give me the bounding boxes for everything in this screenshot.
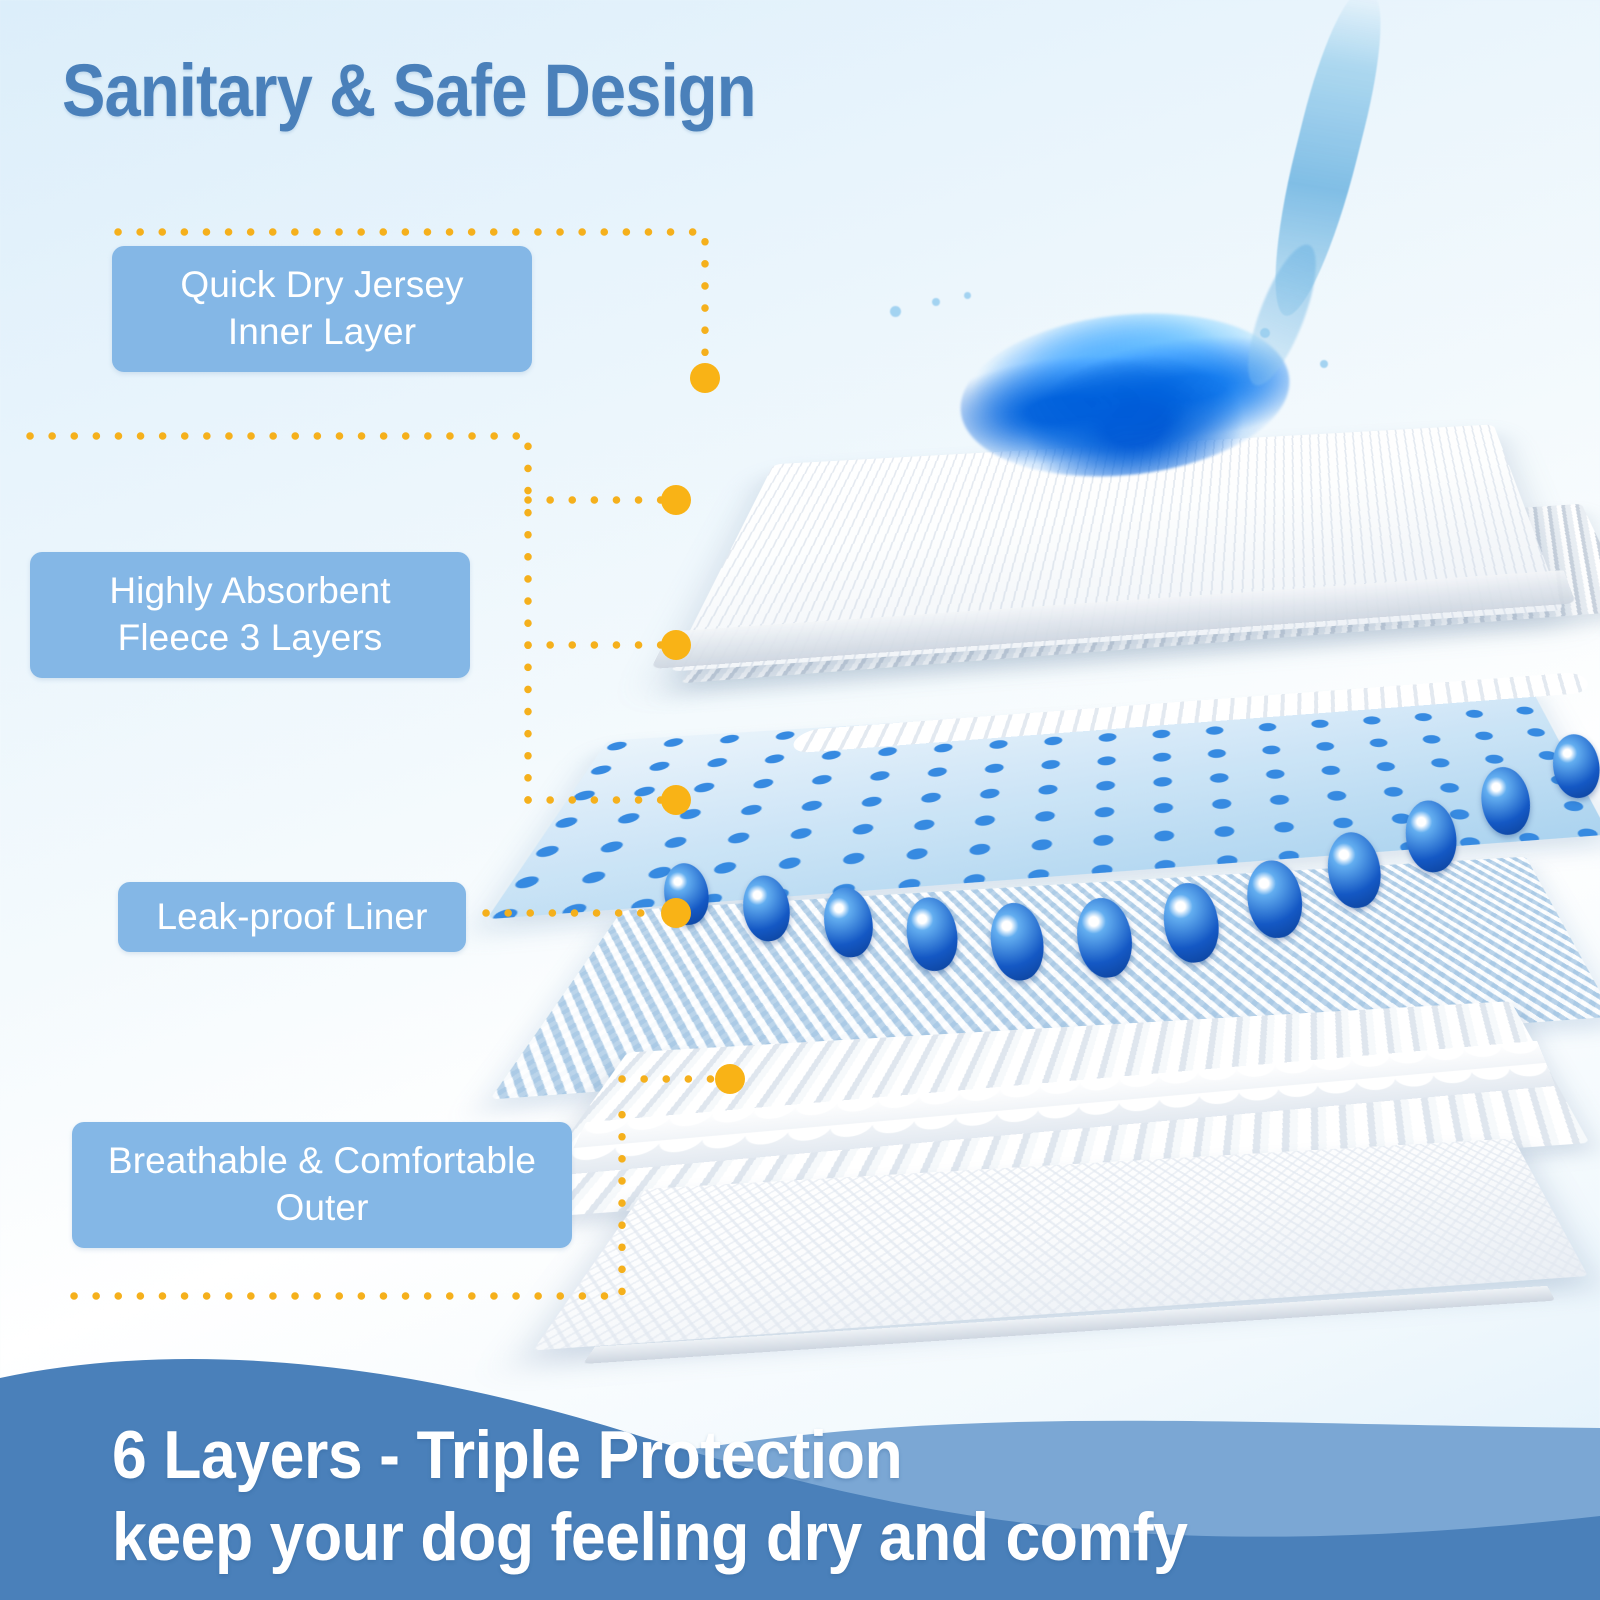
label-highly-absorbent-fleece: Highly Absorbent Fleece 3 Layers [30,552,470,678]
label-breathable-comfortable-outer: Breathable & Comfortable Outer [72,1122,572,1248]
water-droplet-icon [1260,328,1270,338]
water-droplet-icon [964,292,971,299]
bottom-banner: 6 Layers - Triple Protection keep your d… [0,1320,1600,1600]
label-quick-dry-jersey-inner-layer: Quick Dry Jersey Inner Layer [112,246,532,372]
water-droplet-icon [1320,360,1328,368]
banner-headline: 6 Layers - Triple Protection [112,1416,902,1494]
product-layer-illustration [560,60,1600,1360]
infographic-canvas: Sanitary & Safe Design [0,0,1600,1600]
water-droplet-icon [890,306,901,317]
label-leak-proof-liner: Leak-proof Liner [118,882,466,952]
banner-subline: keep your dog feeling dry and comfy [112,1498,1187,1576]
water-droplet-icon [932,298,940,306]
